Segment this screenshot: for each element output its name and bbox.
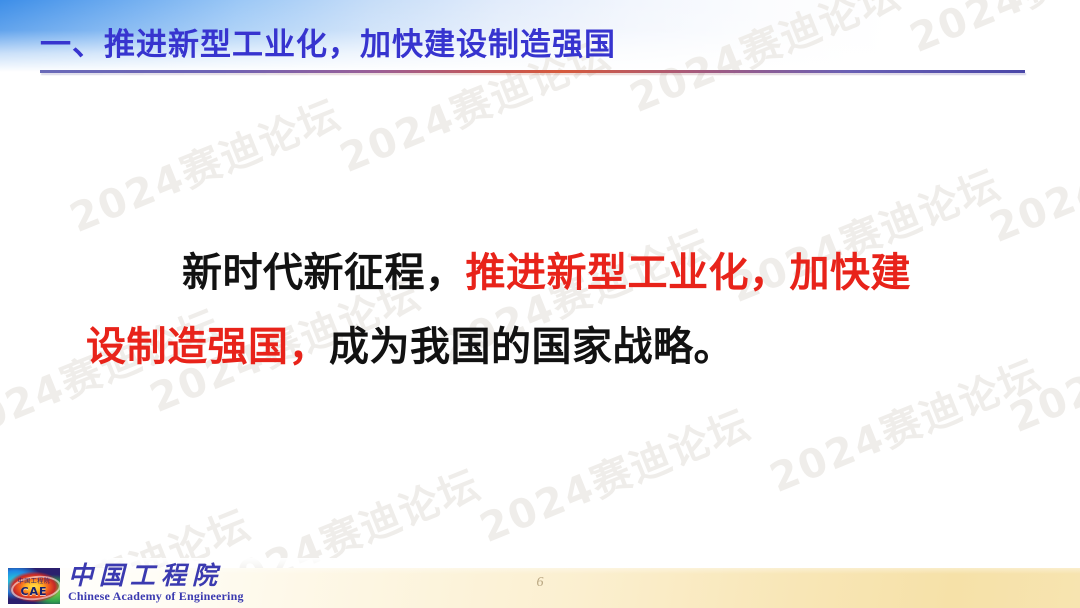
page-title: 一、推进新型工业化，加快建设制造强国 bbox=[40, 27, 616, 63]
logo-name-english: Chinese Academy of Engineering bbox=[68, 589, 244, 603]
slide-title-row: 一、推进新型工业化，加快建设制造强国 bbox=[40, 20, 1040, 70]
page-number: 6 bbox=[0, 575, 1080, 591]
watermark-text: 2024赛迪论坛 bbox=[470, 392, 758, 553]
body-segment-red-2: 设制造强国， bbox=[86, 324, 329, 370]
title-underline-rule bbox=[40, 70, 1025, 73]
body-line-1: 新时代新征程，推进新型工业化，加快建 bbox=[86, 236, 1006, 310]
title-rule-shadow bbox=[41, 73, 1026, 75]
slide-body: 新时代新征程，推进新型工业化，加快建 设制造强国，成为我国的国家战略。 bbox=[86, 236, 1006, 384]
watermark-text: 2024赛迪论坛 bbox=[980, 92, 1080, 253]
body-line-2: 设制造强国，成为我国的国家战略。 bbox=[86, 310, 1006, 384]
body-segment-black-tail: 成为我国的国家战略。 bbox=[329, 324, 734, 370]
body-segment-red-1: 推进新型工业化，加快建 bbox=[466, 250, 912, 296]
watermark-text: 2024赛迪论坛 bbox=[1000, 282, 1080, 443]
body-segment-black-lead: 新时代新征程， bbox=[182, 250, 466, 296]
presentation-slide: 2024赛迪论坛2024赛迪论坛2024赛迪论坛2024赛迪论坛2024赛迪论坛… bbox=[0, 0, 1080, 608]
watermark-text: 2024赛迪论坛 bbox=[60, 82, 348, 243]
